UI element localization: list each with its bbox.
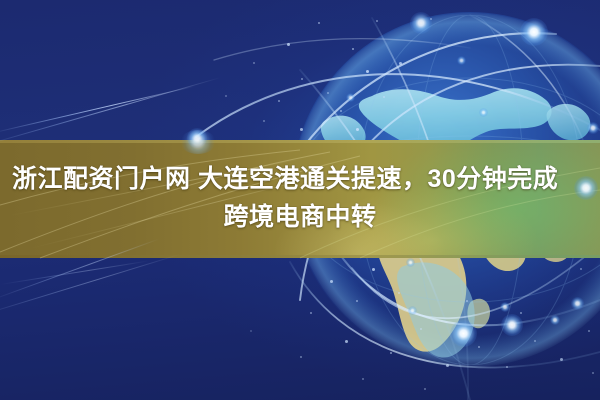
headline-block: 浙江配资门户网 大连空港通关提速，30分钟完成 跨境电商中转 [0,160,600,236]
gold-band-bottom-edge [0,255,600,258]
headline-line-1: 浙江配资门户网 大连空港通关提速，30分钟完成 [0,160,600,198]
headline-line-2: 跨境电商中转 [0,198,600,236]
banner-image: 浙江配资门户网 大连空港通关提速，30分钟完成 跨境电商中转 [0,0,600,400]
gold-band-top-edge [0,140,600,143]
